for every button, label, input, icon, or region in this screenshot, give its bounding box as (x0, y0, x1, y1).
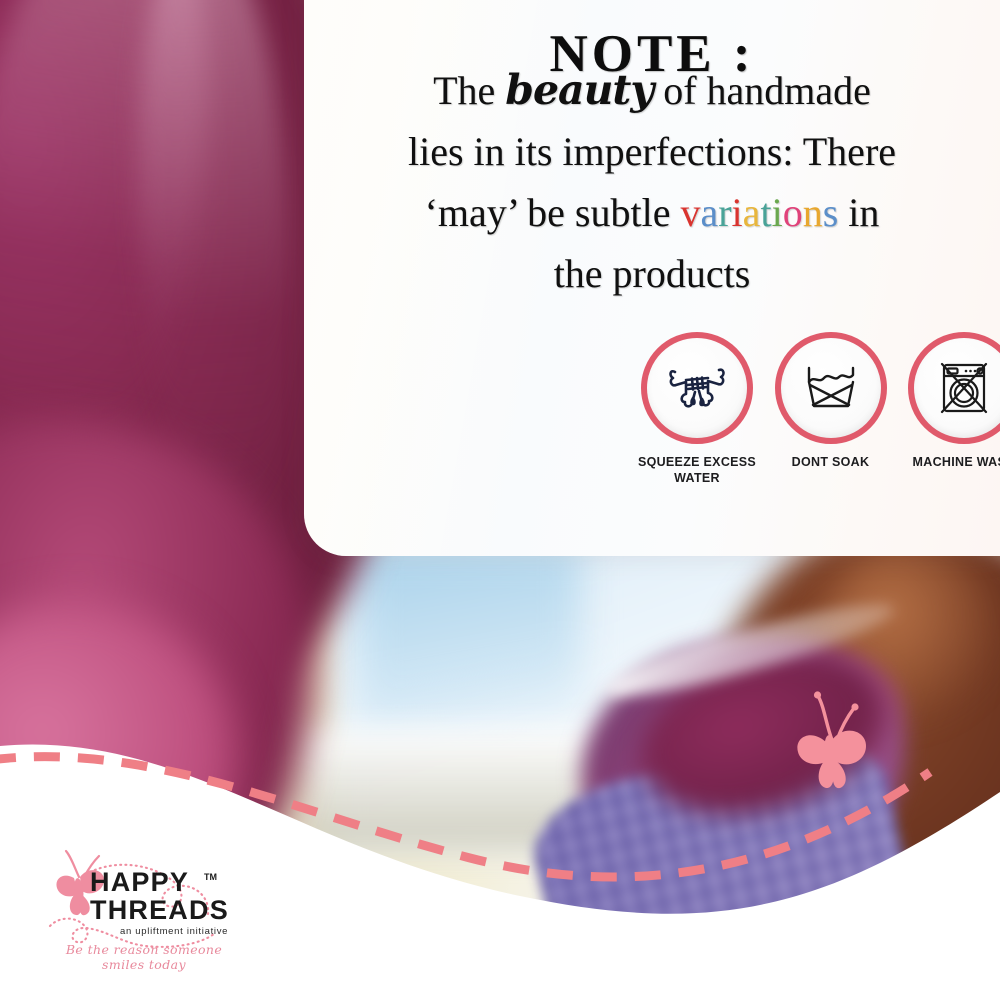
care-item-squeeze-excess-water[interactable]: SQUEEZE EXCESS WATER (634, 332, 760, 486)
squeeze-excess-water-icon (666, 362, 728, 414)
care-label-2: DONT SOAK (792, 454, 870, 470)
colorword-letter-0: v (680, 190, 700, 235)
note-line-1: The beauty of handmade (330, 60, 974, 121)
colorword-letter-2: r (718, 190, 731, 235)
care-circle-2 (775, 332, 887, 444)
colorword-letter-9: s (823, 190, 839, 235)
colorword-letter-1: a (700, 190, 718, 235)
logo-trademark: TM (204, 872, 217, 882)
care-item-no-machine-wash[interactable]: MACHINE WASH (901, 332, 1000, 470)
logo-name-line-2: THREADS (90, 896, 250, 924)
poster-canvas: NOTE : The beauty of handmade lies in it… (0, 0, 1000, 1000)
note-line3-post: in (838, 190, 879, 235)
note-line-3: ‘may’ be subtle variations in (330, 182, 974, 243)
note-colorword-variations: variations (680, 190, 838, 235)
care-circle-3 (908, 332, 1000, 444)
care-circle-1 (641, 332, 753, 444)
colorword-letter-3: i (732, 190, 743, 235)
colorword-letter-5: t (760, 190, 771, 235)
colorword-letter-6: i (772, 190, 783, 235)
colorword-letter-4: a (743, 190, 761, 235)
note-line-4: the products (330, 243, 974, 304)
logo-subtitle: an upliftment initiative (120, 926, 228, 937)
note-body: The beauty of handmade lies in its imper… (330, 60, 974, 304)
logo-wordmark: HAPPY THREADS (90, 868, 250, 924)
no-machine-wash-icon (936, 360, 992, 416)
colorword-letter-8: n (803, 190, 823, 235)
colorword-letter-7: o (783, 190, 803, 235)
care-label-1: SQUEEZE EXCESS WATER (634, 454, 760, 486)
note-line1-pre: The (433, 68, 505, 113)
dont-soak-icon (802, 362, 860, 414)
note-line-2: lies in its imperfections: There (330, 121, 974, 182)
note-script-word-beauty: beauty (505, 66, 653, 114)
butterfly-decoration-icon (780, 690, 890, 800)
care-instruction-row: SQUEEZE EXCESS WATER DONT SOAK (634, 332, 1000, 497)
logo-name-line-1: HAPPY (90, 868, 250, 896)
note-card: NOTE : The beauty of handmade lies in it… (304, 0, 1000, 556)
note-line3-pre: ‘may’ be subtle (425, 190, 681, 235)
brand-logo[interactable]: HAPPY THREADS TM an upliftment initiativ… (28, 848, 248, 968)
care-label-3: MACHINE WASH (913, 454, 1000, 470)
care-item-dont-soak[interactable]: DONT SOAK (768, 332, 894, 470)
logo-tagline: Be the reason someone smiles today (44, 942, 244, 972)
note-line1-post: of handmade (653, 68, 871, 113)
